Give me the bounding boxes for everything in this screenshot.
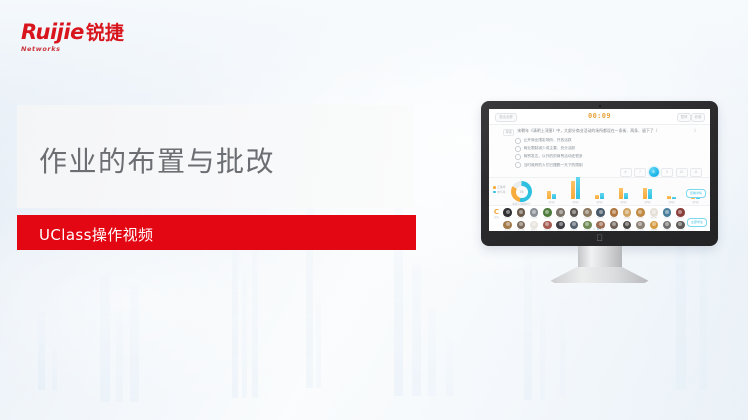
option-row[interactable]: 让开商业限定场所、开放活跃 [515,138,698,144]
radio-icon[interactable] [515,146,521,152]
student-item[interactable]: 蒋欣悦 [675,208,686,220]
students-panel: C 班级 张小明 李雨晴 王浩然 陈思远 刘子轩 赵一诺 孙佳怡 周梓涵 [489,205,710,231]
avatar [610,221,619,230]
bar-participation [600,193,604,199]
avatar [676,208,685,217]
student-name: 严俊熙 [662,229,673,231]
student-item[interactable]: 褚若彤 [648,208,659,220]
student-item[interactable]: 许嘉月 [568,221,579,232]
carousel-dot[interactable] [601,228,603,230]
student-name: 施博文 [608,229,619,231]
student-item[interactable]: 张书瑶 [622,221,633,232]
student-name: 陈思远 [542,217,553,220]
legend-label: 正确率 [497,186,505,189]
student-item[interactable]: 严俊熙 [662,221,673,232]
avatar [503,221,512,230]
student-name: 卫振宇 [662,217,673,220]
avatar [676,221,685,230]
pager-page[interactable]: 11 [690,168,702,177]
student-item[interactable]: 施博文 [608,221,619,232]
student-name: 张书瑶 [622,229,633,231]
student-name: 冯泽凯 [635,217,646,220]
student-item[interactable]: 卫振宇 [662,208,673,220]
student-name: 刘子轩 [555,217,566,220]
student-name: 秦浩宇 [555,229,566,231]
student-name: 褚若彤 [648,217,659,220]
avatar [650,208,659,217]
student-item[interactable]: 朱彦霖 [542,221,553,232]
option-label: 让开商业限定场所、开放活跃 [524,138,572,143]
avatar [570,208,579,217]
bar-participation [576,177,580,199]
radio-icon[interactable] [515,138,521,144]
student-item[interactable]: 华子涵 [675,221,686,232]
apple-logo-icon:  [596,234,604,243]
avatar [636,208,645,217]
student-item[interactable]: 张小明 [502,208,513,220]
class-letter: C [492,209,501,216]
student-name: 孙佳怡 [582,217,593,220]
student-item[interactable]: 陈思远 [542,208,553,220]
avatar [596,208,605,217]
avatar [543,208,552,217]
student-name: 蒋欣悦 [675,217,686,220]
avatar [543,221,552,230]
student-name: 李雨晴 [515,217,526,220]
monitor-stand-base [551,267,649,283]
all-students-button[interactable]: 全部学生 [687,218,707,227]
student-name: 许嘉月 [568,229,579,231]
question-header: 单选 宋朝年《清明上河图》中，大部分商业活动的场所都设在一条街、两条、留下了（ … [503,128,698,136]
option-label: 商贸发达，以外的的商贸活动还很多 [524,154,583,159]
legend-item: 正确率 [493,186,506,189]
question-pager[interactable]: 6 7 8 9 10 11 [620,167,703,177]
legend-swatch-correct [493,186,496,189]
question-type-tag: 单选 [503,129,514,136]
student-name: 华子涵 [675,229,686,231]
countdown-timer: 00:09 [583,112,617,121]
screen-topbar: 退出全屏 00:09 暂停 收卷 [489,109,710,125]
student-item[interactable]: 冯泽凯 [635,208,646,220]
presentation-slide: Ruijie锐捷 Networks 作业的布置与批改 UClass操作视频  … [0,0,748,420]
pager-page[interactable]: 6 [620,168,632,177]
bar-category-label: 第6题 [667,200,676,204]
radio-icon[interactable] [515,154,521,160]
page-title: 作业的布置与批改 [39,140,275,180]
logo-wordmark-chinese: 锐捷 [86,22,124,44]
bar-participation [672,197,676,199]
bar-category-label: 第5题 [643,200,652,204]
avatar [623,208,632,217]
bar-participation [552,194,556,199]
legend-label: 参与率 [497,191,505,194]
question-block: 单选 宋朝年《清明上河图》中，大部分商业活动的场所都设在一条街、两条、留下了（ … [503,128,698,168]
logo-wordmark-latin: Ruijie [21,20,84,44]
student-item[interactable]: 杨紫萱 [529,221,540,232]
bar-category-label: 第3题 [595,200,604,204]
avatar [556,208,565,217]
student-name: 张小明 [502,217,513,220]
bar-correct [643,188,647,199]
avatar [583,208,592,217]
pause-button[interactable]: 暂停 [677,113,691,122]
donut-center-value: 78 [516,186,528,198]
bar-chart: 第1题 第2题 第3题 [547,180,678,204]
student-name: 吴俊杰 [608,217,619,220]
option-label: 商业限制减少成主要、充分活跃 [524,146,576,151]
avatar [530,221,539,230]
student-name: 沈梦琪 [502,229,513,231]
student-name: 王浩然 [529,217,540,220]
bar-correct [595,195,599,200]
bar-correct [619,188,623,200]
subtitle-label: UClass操作视频 [39,224,153,245]
collect-button[interactable]: 收卷 [691,113,705,122]
avatar [570,221,579,230]
pager-page[interactable]: 10 [676,168,688,177]
avatar [517,208,526,217]
exit-fullscreen-button[interactable]: 退出全屏 [495,113,517,122]
bar-participation [696,198,700,199]
question-expand-icon[interactable]: 》 [694,128,698,134]
student-item[interactable]: 孔维安 [635,221,646,232]
student-item[interactable]: 刘子轩 [555,208,566,220]
monitor-bezel:  退出全屏 00:09 暂停 收卷 单选 宋朝年《清明上河图》中，大部分商业活… [481,101,718,246]
option-label: 当时政府的人们已摆脱一天下的限制 [524,163,583,168]
student-item[interactable]: 孙佳怡 [582,208,593,220]
student-name: 周梓涵 [595,217,606,220]
student-item[interactable]: 何泽楷 [582,221,593,232]
class-badge: C 班级 [492,209,501,219]
option-row[interactable]: 商业限制减少成主要、充分活跃 [515,146,698,152]
pager-page[interactable]: 7 [634,168,646,177]
bar-correct [571,181,575,199]
avatar [663,208,672,217]
student-name: 何泽楷 [582,229,593,231]
avatar [503,208,512,217]
student-item[interactable]: 郑语嫣 [622,208,633,220]
carousel-dot[interactable] [593,228,595,230]
avatar [663,221,672,230]
bar-correct [547,191,551,199]
avatar [623,221,632,230]
carousel-dot-active[interactable] [597,228,599,230]
pager-page-active[interactable]: 8 [649,167,659,177]
avatar [556,221,565,230]
bar-category-label: 第2题 [571,200,580,204]
legend-item: 参与率 [493,191,506,194]
student-name: 赵一诺 [568,217,579,220]
student-item[interactable]: 周梓涵 [595,208,606,220]
student-item[interactable]: 王浩然 [529,208,540,220]
student-name: 孔维安 [635,229,646,231]
avatar [583,221,592,230]
avatar [530,208,539,217]
avatar [636,221,645,230]
student-name: 朱彦霖 [542,229,553,231]
student-name: 曹雅琳 [648,229,659,231]
question-text: 宋朝年《清明上河图》中，大部分商业活动的场所都设在一条街、两条、留下了（ [517,128,691,134]
legend-swatch-participation [493,191,496,194]
avatar [610,208,619,217]
ruijie-logo: Ruijie锐捷 Networks [21,22,141,56]
student-name: 杨紫萱 [529,229,540,231]
title-card: 作业的布置与批改 [17,105,414,208]
bar-category-label: 第7题 [691,200,700,204]
monitor-stand-neck [578,246,622,267]
avatar [517,221,526,230]
bar-category-label: 第4题 [619,200,628,204]
bar-category-label: 第1题 [547,200,556,204]
option-row[interactable]: 商贸发达，以外的的商贸活动还很多 [515,154,698,160]
stats-detail-button[interactable]: 查看详情 [686,189,706,198]
student-row: 张小明 李雨晴 王浩然 陈思远 刘子轩 赵一诺 孙佳怡 周梓涵 吴俊杰 郑语嫣 … [502,208,686,220]
student-item[interactable]: 曹雅琳 [648,221,659,232]
monitor-screen: 退出全屏 00:09 暂停 收卷 单选 宋朝年《清明上河图》中，大部分商业活动的… [489,109,710,231]
statistics-panel: 正确率 参与率 78 本题正确率统计 [489,177,710,206]
student-item[interactable]: 吴俊杰 [608,208,619,220]
logo-tagline: Networks [21,45,141,53]
student-item[interactable]: 沈梦琪 [502,221,513,232]
student-item[interactable]: 李雨晴 [515,208,526,220]
avatar [650,221,659,230]
bar-participation [648,189,652,199]
class-caption: 班级 [492,216,501,219]
student-item[interactable]: 赵一诺 [568,208,579,220]
donut-chart: 78 [511,181,532,202]
student-name: 郑语嫣 [622,217,633,220]
student-item[interactable]: 韩立诚 [515,221,526,232]
carousel-dots[interactable] [593,228,603,230]
monitor-mockup:  退出全屏 00:09 暂停 收卷 单选 宋朝年《清明上河图》中，大部分商业活… [481,101,718,282]
radio-icon[interactable] [515,162,521,168]
bar-correct [667,196,671,199]
pager-page[interactable]: 9 [661,168,673,177]
chart-legend: 正确率 参与率 [493,186,506,195]
student-item[interactable]: 秦浩宇 [555,221,566,232]
webcam-icon [599,105,601,107]
student-name: 韩立诚 [515,229,526,231]
subtitle-banner: UClass操作视频 [17,215,416,250]
logo-wordmark: Ruijie锐捷 [21,22,141,43]
bar-participation [624,193,628,200]
